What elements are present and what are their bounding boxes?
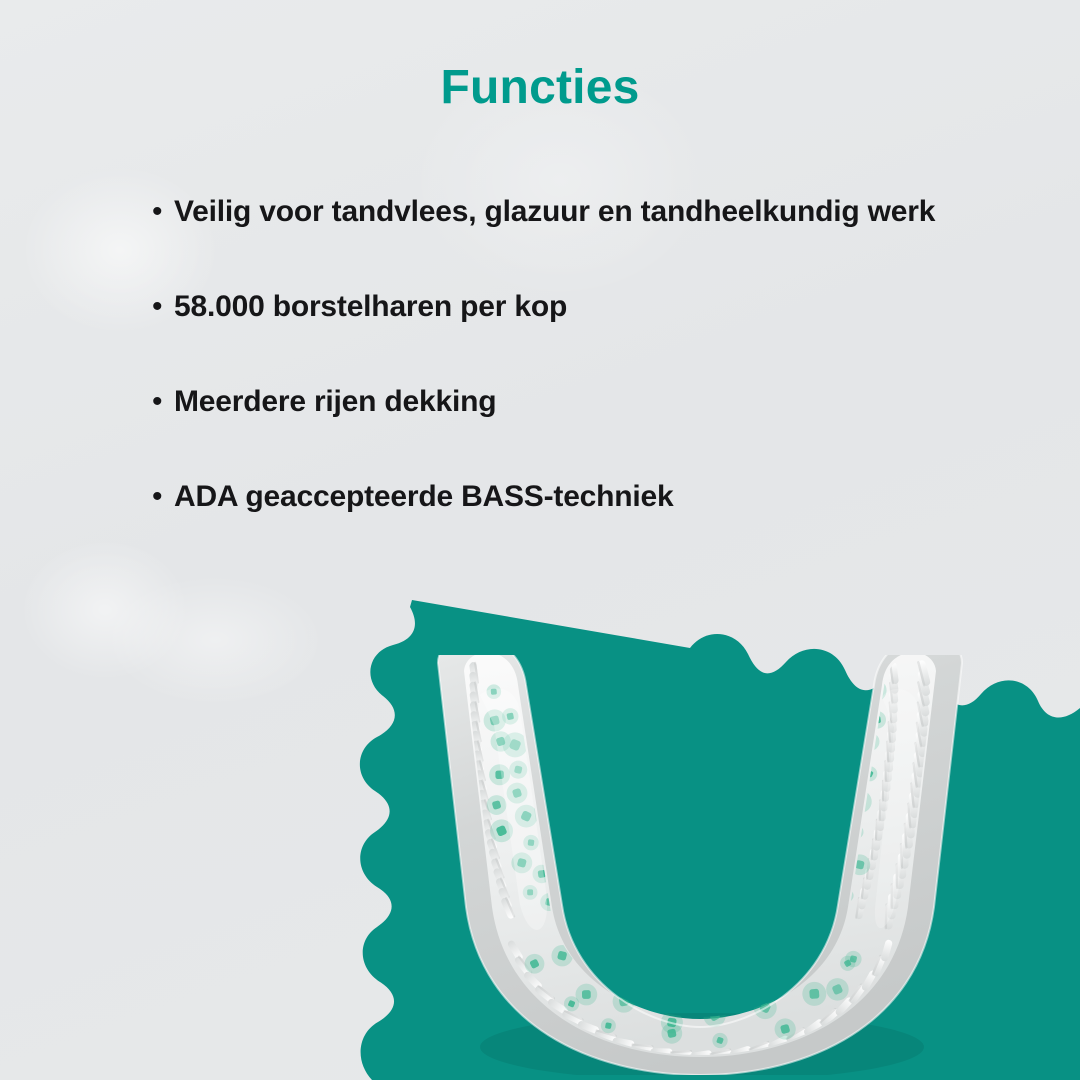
feature-label: 58.000 borstelharen per kop [174,285,567,329]
list-item: • Veilig voor tandvlees, glazuur en tand… [152,190,1052,285]
page-title: Functies [0,62,1080,115]
feature-list: • Veilig voor tandvlees, glazuur en tand… [152,190,1052,570]
feature-card: Functies • Veilig voor tandvlees, glazuu… [0,0,1080,1080]
list-item: • Meerdere rijen dekking [152,380,1052,475]
feature-label: Meerdere rijen dekking [174,380,496,424]
feature-label: Veilig voor tandvlees, glazuur en tandhe… [174,190,935,234]
bullet-icon: • [152,285,174,329]
product-image-u-shaped-brush-head [420,655,980,1075]
bullet-icon: • [152,190,174,234]
bullet-icon: • [152,475,174,519]
list-item: • 58.000 borstelharen per kop [152,285,1052,380]
bullet-icon: • [152,380,174,424]
list-item: • ADA geaccepteerde BASS-techniek [152,475,1052,570]
feature-label: ADA geaccepteerde BASS-techniek [174,475,674,519]
